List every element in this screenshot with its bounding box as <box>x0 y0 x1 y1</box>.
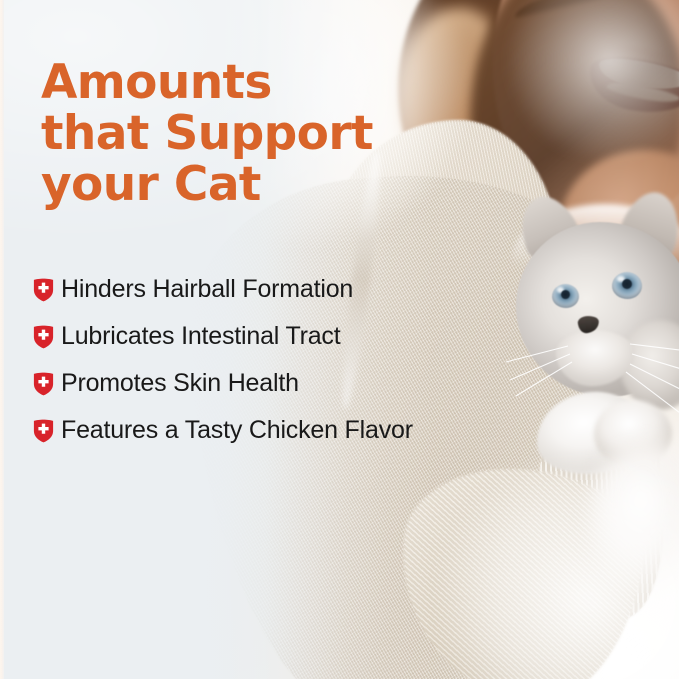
shield-plus-icon <box>33 419 54 443</box>
benefits-list: Hinders Hairball Formation Lubricates In… <box>33 266 413 454</box>
banner-content: Amounts that Support your Cat Hinders Ha… <box>0 0 679 679</box>
headline-line-2: that Support <box>41 108 373 159</box>
headline-line-3: your Cat <box>41 159 373 210</box>
product-benefits-banner: Amounts that Support your Cat Hinders Ha… <box>0 0 679 679</box>
shield-plus-icon <box>33 325 54 349</box>
page-title: Amounts that Support your Cat <box>41 57 373 210</box>
list-item: Hinders Hairball Formation <box>33 266 413 313</box>
list-item: Features a Tasty Chicken Flavor <box>33 407 413 454</box>
benefit-label: Hinders Hairball Formation <box>61 276 353 303</box>
shield-plus-icon <box>33 372 54 396</box>
benefit-label: Features a Tasty Chicken Flavor <box>61 417 413 444</box>
shield-plus-icon <box>33 278 54 302</box>
list-item: Promotes Skin Health <box>33 360 413 407</box>
benefit-label: Lubricates Intestinal Tract <box>61 323 340 350</box>
list-item: Lubricates Intestinal Tract <box>33 313 413 360</box>
benefit-label: Promotes Skin Health <box>61 370 299 397</box>
headline-line-1: Amounts <box>41 57 373 108</box>
